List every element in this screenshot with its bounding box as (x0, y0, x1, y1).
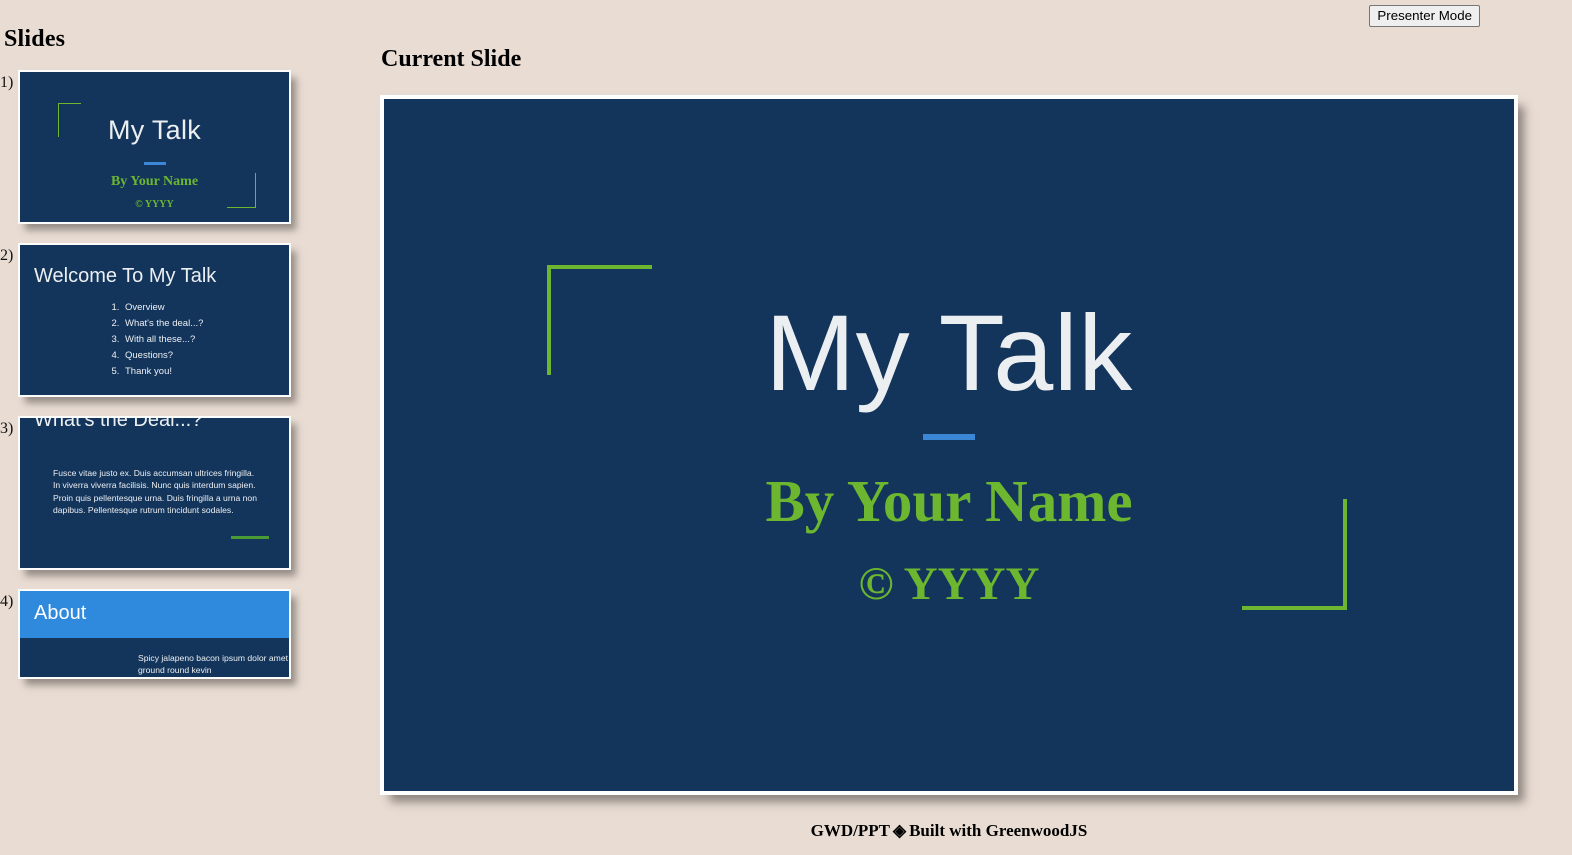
thumbnail-2-agenda-list: Overview What's the deal...? With all th… (108, 300, 203, 380)
diamond-icon: ◈ (890, 821, 909, 840)
thumbnail-1-byline: By Your Name (20, 174, 289, 190)
list-item: Questions? (122, 348, 203, 364)
thumbnail-1-copyright: © YYYY (20, 199, 289, 210)
thumbnail-4-title: About (34, 602, 86, 625)
main-area: Current Slide My Talk By Your Name © YYY… (380, 0, 1572, 855)
slide-thumbnail-2[interactable]: Welcome To My Talk Overview What's the d… (18, 243, 291, 397)
slide-thumbnail-list: 1) My Talk By Your Name © YYYY 2) Welcom… (0, 70, 380, 679)
list-item: Overview (122, 300, 203, 316)
slide-thumbnail-4[interactable]: About Spicy jalapeno bacon ipsum dolor a… (18, 589, 291, 679)
footer: GWD/PPT◈Built with GreenwoodJS (380, 821, 1518, 841)
footer-right-text: Built with GreenwoodJS (909, 821, 1087, 840)
current-slide-accent-rule (923, 434, 975, 440)
current-slide-heading: Current Slide (380, 0, 1572, 73)
list-item: 4) About Spicy jalapeno bacon ipsum dolo… (0, 589, 380, 679)
list-item: With all these...? (122, 332, 203, 348)
thumbnail-index-4: 4) (0, 589, 18, 610)
list-item: 2) Welcome To My Talk Overview What's th… (0, 243, 380, 397)
thumbnail-2-title: Welcome To My Talk (34, 265, 216, 288)
slides-panel: Slides 1) My Talk By Your Name © YYYY 2)… (0, 0, 380, 855)
list-item: 1) My Talk By Your Name © YYYY (0, 70, 380, 224)
thumbnail-3-title: What's the Deal...? (34, 416, 202, 432)
thumbnail-4-body: Spicy jalapeno bacon ipsum dolor amet gr… (138, 652, 291, 677)
current-slide-title: My Talk (384, 299, 1514, 407)
thumbnail-3-body: Fusce vitae justo ex. Duis accumsan ultr… (53, 467, 263, 516)
footer-left-text: GWD/PPT (811, 821, 890, 840)
thumbnail-index-3: 3) (0, 416, 18, 437)
list-item: What's the deal...? (122, 316, 203, 332)
list-item: 3) What's the Deal...? Fusce vitae justo… (0, 416, 380, 570)
list-item: Thank you! (122, 364, 203, 380)
thumbnail-1-title: My Talk (20, 115, 289, 146)
thumbnail-index-1: 1) (0, 70, 18, 91)
current-slide-byline: By Your Name (384, 467, 1514, 536)
current-slide-stage[interactable]: My Talk By Your Name © YYYY (380, 95, 1518, 795)
current-slide-copyright: © YYYY (384, 557, 1514, 611)
slide-thumbnail-3[interactable]: What's the Deal...? Fusce vitae justo ex… (18, 416, 291, 570)
thumbnail-index-2: 2) (0, 243, 18, 264)
thumbnail-3-accent-rule (231, 536, 269, 539)
slide-thumbnail-1[interactable]: My Talk By Your Name © YYYY (18, 70, 291, 224)
slides-heading: Slides (0, 0, 380, 53)
thumbnail-1-accent-rule (144, 162, 166, 165)
